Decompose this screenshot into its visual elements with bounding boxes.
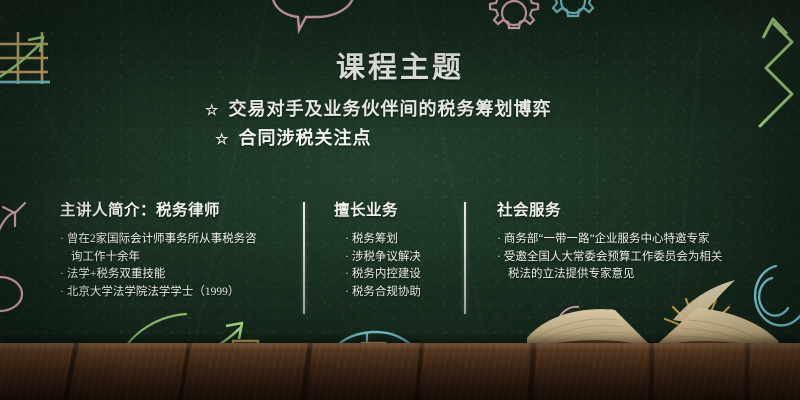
slide-canvas: 课程主题 ☆ 交易对手及业务伙伴间的税务筹划博弈 ☆ 合同涉税关注点 主讲人简介… [0, 0, 800, 400]
list-item-label: 北京大学法学院法学学士（1999） [67, 286, 240, 298]
column-heading-skills: 擅长业务 [334, 198, 421, 220]
bullet-dot-icon: · [345, 268, 349, 280]
gear-pink-icon [483, 0, 545, 44]
bullet-dot-icon: · [60, 233, 64, 245]
bullet-dot-icon: · [345, 251, 349, 263]
subtitle-text-1: 交易对手及业务伙伴间的税务筹划博弈 [228, 96, 551, 123]
bullet-dot-icon: · [60, 268, 64, 280]
subtitle-list: ☆ 交易对手及业务伙伴间的税务筹划博弈 ☆ 合同涉税关注点 [205, 96, 551, 154]
column-heading-service: 社会服务 [497, 198, 722, 220]
list-item: ·曾在2家国际会计师事务所从事税务咨 [60, 231, 257, 249]
list-item-label: 税务合规协助 [352, 286, 421, 298]
bullet-dot-icon: · [497, 251, 501, 263]
list-item-label: 涉税争议解决 [352, 251, 421, 263]
list-item-label: 税法的立法提供专家意见 [508, 268, 635, 280]
list-item: ·商务部“一带一路”企业服务中心特邀专家 [497, 231, 722, 249]
wood-table-surface [0, 343, 800, 400]
list-item: 询工作十余年 [60, 249, 257, 267]
list-item-label: 税务内控建设 [352, 268, 421, 280]
list-item-label: 税务筹划 [352, 233, 398, 245]
bullet-dot-icon: · [60, 286, 64, 298]
subtitle-line-2: ☆ 合同涉税关注点 [205, 125, 551, 154]
list-item: ·涉税争议解决 [334, 249, 421, 267]
list-item-label: 曾在2家国际会计师事务所从事税务咨 [67, 233, 257, 245]
list-item: ·税务筹划 [334, 231, 421, 249]
bullet-dot-icon: · [497, 233, 501, 245]
column-skills: 擅长业务 ·税务筹划 ·涉税争议解决 ·税务内控建设 ·税务合规协助 [334, 198, 421, 301]
bullet-dot-icon: · [345, 233, 349, 245]
column-heading-speaker: 主讲人简介：税务律师 [60, 198, 257, 220]
slide-title: 课程主题 [0, 44, 800, 86]
list-item-label: 询工作十余年 [71, 251, 140, 263]
star-bullet-icon: ☆ [205, 98, 219, 125]
list-item: ·税务内控建设 [334, 266, 421, 284]
bullet-dot-icon: · [345, 286, 349, 298]
list-item-label: 商务部“一带一路”企业服务中心特邀专家 [504, 233, 710, 245]
list-item: ·北京大学法学院法学学士（1999） [60, 284, 257, 302]
column-speaker-profile: 主讲人简介：税务律师 ·曾在2家国际会计师事务所从事税务咨 询工作十余年 ·法学… [60, 198, 257, 301]
gear-cyan-icon [542, 0, 604, 32]
column-social-service: 社会服务 ·商务部“一带一路”企业服务中心特邀专家 ·受邀全国人大常委会预算工作… [497, 198, 722, 284]
star-bullet-icon: ☆ [215, 127, 229, 154]
list-item-label: 法学+税务双重技能 [67, 268, 166, 280]
subtitle-line-1: ☆ 交易对手及业务伙伴间的税务筹划博弈 [205, 96, 551, 125]
list-item: ·受邀全国人大常委会预算工作委员会为相关 [497, 249, 722, 267]
speech-bubble-icon [258, 0, 368, 42]
list-item-label: 受邀全国人大常委会预算工作委员会为相关 [504, 251, 723, 263]
wood-shading-overlay [0, 343, 800, 400]
list-item: ·税务合规协助 [334, 284, 421, 302]
subtitle-text-2: 合同涉税关注点 [238, 125, 371, 152]
list-item: ·法学+税务双重技能 [60, 266, 257, 284]
